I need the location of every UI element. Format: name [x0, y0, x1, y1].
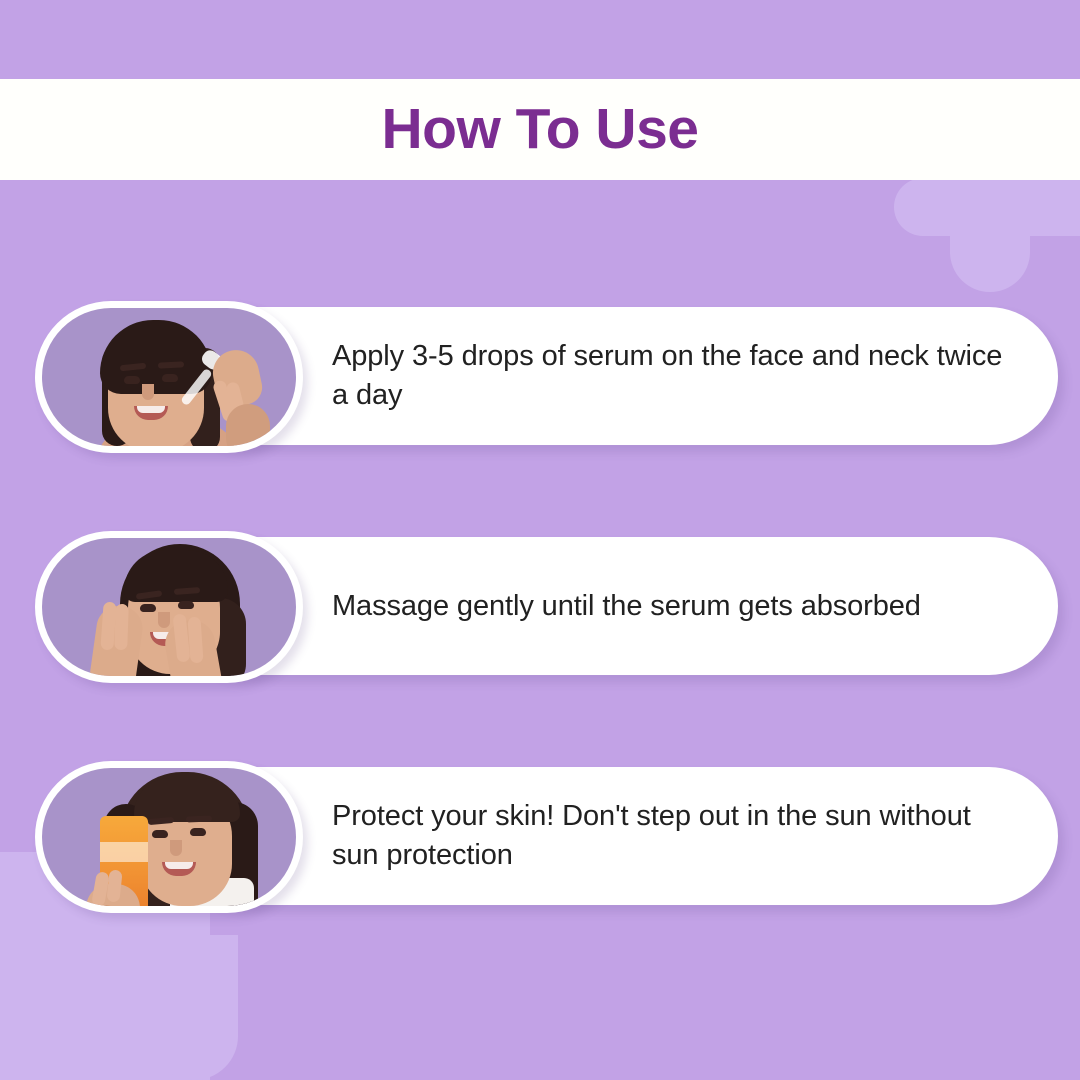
face-massage-photo — [42, 538, 296, 676]
step-text: Massage gently until the serum gets abso… — [332, 587, 921, 626]
how-to-use-infographic: How To Use Apply 3-5 drops of serum on t… — [0, 0, 1080, 1080]
step-thumbnail — [35, 301, 303, 453]
step-thumbnail — [35, 531, 303, 683]
header-band: How To Use — [0, 79, 1080, 180]
step-card: Apply 3-5 drops of serum on the face and… — [35, 307, 1058, 445]
serum-dropper-photo — [42, 308, 296, 446]
step-card-body: Massage gently until the serum gets abso… — [175, 537, 1058, 675]
step-card-body: Protect your skin! Don't step out in the… — [175, 767, 1058, 905]
page-title: How To Use — [382, 101, 699, 158]
step-thumbnail — [35, 761, 303, 913]
step-card: Protect your skin! Don't step out in the… — [35, 767, 1058, 905]
step-text: Apply 3-5 drops of serum on the face and… — [332, 337, 1018, 414]
step-card: Massage gently until the serum gets abso… — [35, 537, 1058, 675]
step-card-body: Apply 3-5 drops of serum on the face and… — [175, 307, 1058, 445]
sunscreen-tube-photo — [42, 768, 296, 906]
step-text: Protect your skin! Don't step out in the… — [332, 797, 1018, 874]
